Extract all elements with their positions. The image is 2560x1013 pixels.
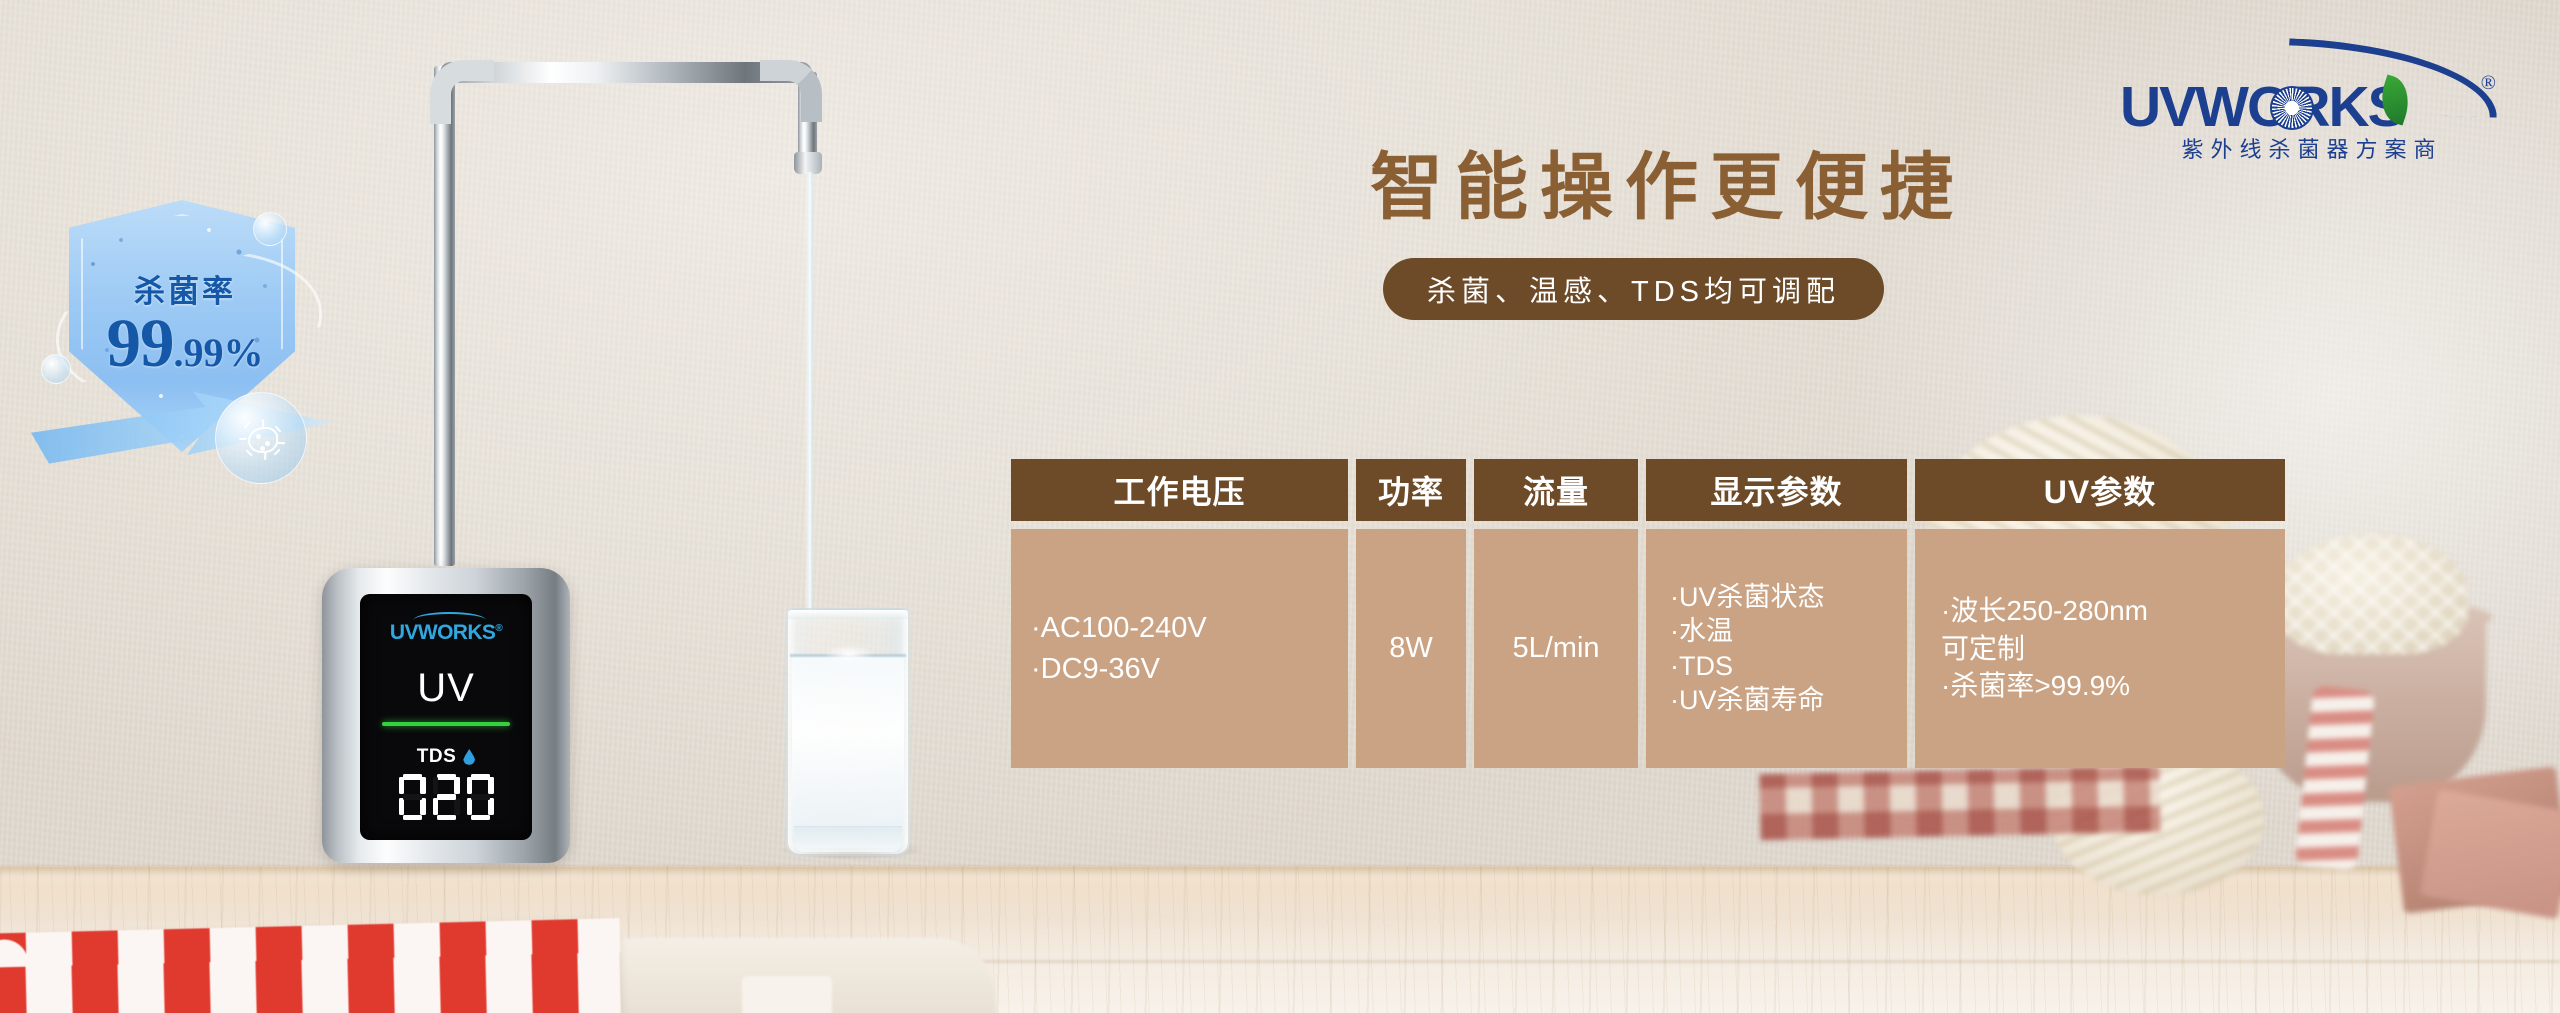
spec-column-flow: 流量 5L/min xyxy=(1474,459,1638,768)
faucet-nozzle xyxy=(794,152,822,174)
yarn-ball-net-texture xyxy=(2276,534,2468,654)
seven-segment-digit xyxy=(433,774,460,820)
water-splash xyxy=(814,636,884,666)
device-logo-arc-icon xyxy=(414,612,486,628)
spec-line: ·TDS xyxy=(1670,651,1733,681)
spec-line: 8W xyxy=(1389,632,1433,664)
bacteria-icon xyxy=(240,419,284,459)
faucet-horizontal-pipe xyxy=(440,62,812,83)
glass-base xyxy=(794,826,902,852)
spec-column-uv: UV参数 ·波长250-280nm 可定制 ·杀菌率>99.9% xyxy=(1915,459,2285,768)
badge-percent-minor: .99% xyxy=(174,330,264,375)
spec-header-display: 显示参数 xyxy=(1646,459,1907,521)
uv-sterilizer-device: UVWORKS® UV TDS xyxy=(322,568,570,863)
spec-body-display: ·UV杀菌状态 ·水温 ·TDS ·UV杀菌寿命 xyxy=(1646,529,1907,768)
spec-line: ·波长250-280nm xyxy=(1941,595,2148,626)
device-display-screen: UVWORKS® UV TDS xyxy=(360,594,532,840)
bowl-highlight xyxy=(742,976,832,1013)
spec-line: ·AC100-240V xyxy=(1031,612,1207,644)
water-drop-icon xyxy=(463,749,475,765)
page-title: 智能操作更便捷 xyxy=(1370,128,1965,234)
checkered-fabric-right xyxy=(1759,766,2160,840)
spec-line: ·UV杀菌状态 xyxy=(1670,582,1825,612)
spec-line: ·DC9-36V xyxy=(1031,653,1160,685)
spec-header-uv: UV参数 xyxy=(1915,459,2285,521)
spec-body-voltage: ·AC100-240V ·DC9-36V xyxy=(1011,529,1348,768)
logo-registered-mark: ® xyxy=(2481,72,2496,95)
spec-header-voltage: 工作电压 xyxy=(1011,459,1348,521)
uv-sun-rays-icon xyxy=(2270,86,2314,130)
device-screen-logo: UVWORKS® xyxy=(360,621,532,645)
spec-column-voltage: 工作电压 ·AC100-240V ·DC9-36V xyxy=(1011,459,1348,768)
spec-line: ·UV杀菌寿命 xyxy=(1670,685,1825,715)
device-tds-readout xyxy=(360,774,532,820)
sterilization-rate-badge: 杀菌率 99.99% xyxy=(25,176,345,486)
device-mode-label: UV xyxy=(360,666,532,711)
seven-segment-digit xyxy=(399,774,426,820)
badge-percent-major: 99 xyxy=(107,305,174,381)
water-stream xyxy=(805,172,814,612)
device-logo-registered-mark: ® xyxy=(495,623,502,634)
subtitle-pill-label: 杀菌、温感、TDS均可调配 xyxy=(1427,268,1840,310)
bubble-icon xyxy=(253,212,287,246)
bubble-icon xyxy=(41,354,71,384)
spec-column-display: 显示参数 ·UV杀菌状态 ·水温 ·TDS ·UV杀菌寿命 xyxy=(1646,459,1907,768)
subtitle-pill: 杀菌、温感、TDS均可调配 xyxy=(1383,258,1884,320)
device-tds-row: TDS xyxy=(360,746,532,768)
spec-line: 可定制 xyxy=(1941,633,2025,664)
faucet-vertical-pipe xyxy=(434,66,455,566)
brand-logo: UVWORKS ® 紫外线杀菌器方案商 xyxy=(2120,36,2500,154)
device-tds-label: TDS xyxy=(417,746,457,767)
spec-body-uv: ·波长250-280nm 可定制 ·杀菌率>99.9% xyxy=(1915,529,2285,768)
spec-line: ·杀菌率>99.9% xyxy=(1941,670,2130,701)
glass-water-fill xyxy=(792,656,904,848)
seven-segment-digit xyxy=(467,774,494,820)
spec-body-flow: 5L/min xyxy=(1474,529,1638,768)
glass-rim xyxy=(788,610,908,619)
logo-tagline: 紫外线杀菌器方案商 xyxy=(2122,132,2502,164)
badge-percentage: 99.99% xyxy=(25,304,345,383)
device-status-bar xyxy=(382,722,510,726)
spec-body-power: 8W xyxy=(1356,529,1466,768)
germ-bubble-icon xyxy=(215,392,307,484)
spec-table: 工作电压 ·AC100-240V ·DC9-36V 功率 8W 流量 5L/mi… xyxy=(1011,459,2285,768)
spec-line: ·水温 xyxy=(1670,616,1733,646)
water-glass xyxy=(786,608,910,856)
spec-line: 5L/min xyxy=(1512,632,1599,664)
spec-column-power: 功率 8W xyxy=(1356,459,1466,768)
faucet-corner-left xyxy=(430,60,494,124)
spec-header-flow: 流量 xyxy=(1474,459,1638,521)
spec-header-power: 功率 xyxy=(1356,459,1466,521)
